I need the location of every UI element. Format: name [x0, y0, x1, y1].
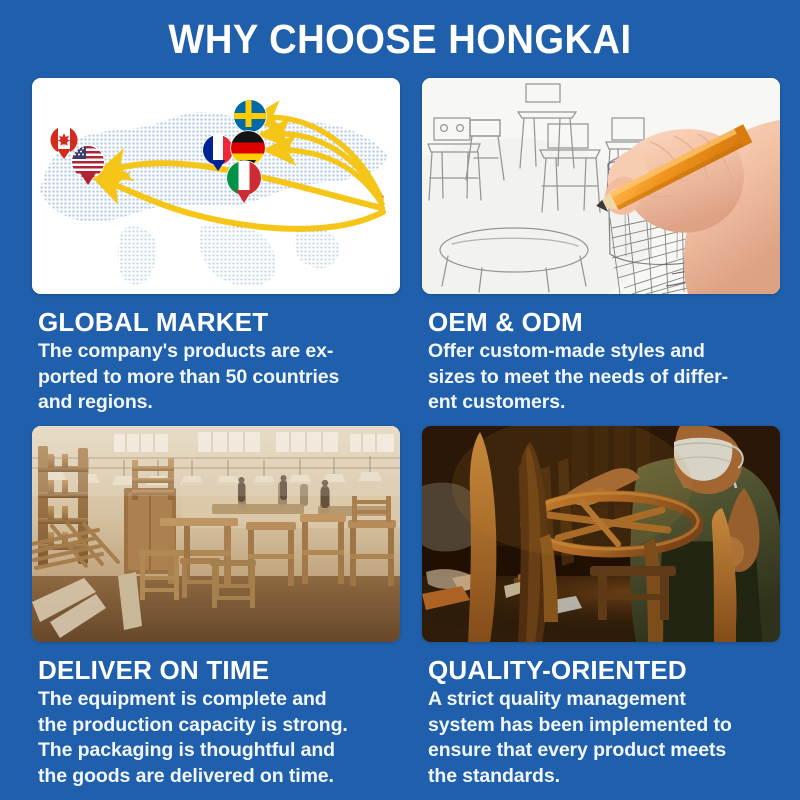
- feature-card-oem-odm: OEM & ODM Offer custom-made styles and s…: [422, 78, 780, 416]
- feature-card-global-market: GLOBAL MARKET The company's products are…: [32, 78, 400, 416]
- feature-body-quality-oriented: A strict quality management system has b…: [428, 687, 780, 789]
- feature-card-deliver-on-time: DELIVER ON TIME The equipment is complet…: [32, 426, 400, 789]
- feature-heading-global-market: GLOBAL MARKET: [38, 307, 400, 337]
- page-title: WHY CHOOSE HONGKAI: [28, 16, 772, 62]
- feature-card-quality-oriented: QUALITY-ORIENTED A strict quality manage…: [422, 426, 780, 789]
- feature-heading-deliver-on-time: DELIVER ON TIME: [38, 655, 400, 685]
- feature-body-oem-odm: Offer custom-made styles and sizes to me…: [428, 339, 780, 416]
- furniture-factory-workshop-image: [32, 426, 400, 642]
- furniture-sketch-hand-pencil-image: [422, 78, 780, 294]
- why-choose-poster: WHY CHOOSE HONGKAI: [0, 0, 800, 800]
- feature-heading-quality-oriented: QUALITY-ORIENTED: [428, 655, 780, 685]
- feature-body-deliver-on-time: The equipment is complete and the produc…: [38, 687, 400, 789]
- craftsman-assembling-chair-image: [422, 426, 780, 642]
- feature-heading-oem-odm: OEM & ODM: [428, 307, 780, 337]
- feature-body-global-market: The company's products are ex- ported to…: [38, 339, 400, 416]
- world-map-export-routes-image: [32, 78, 400, 294]
